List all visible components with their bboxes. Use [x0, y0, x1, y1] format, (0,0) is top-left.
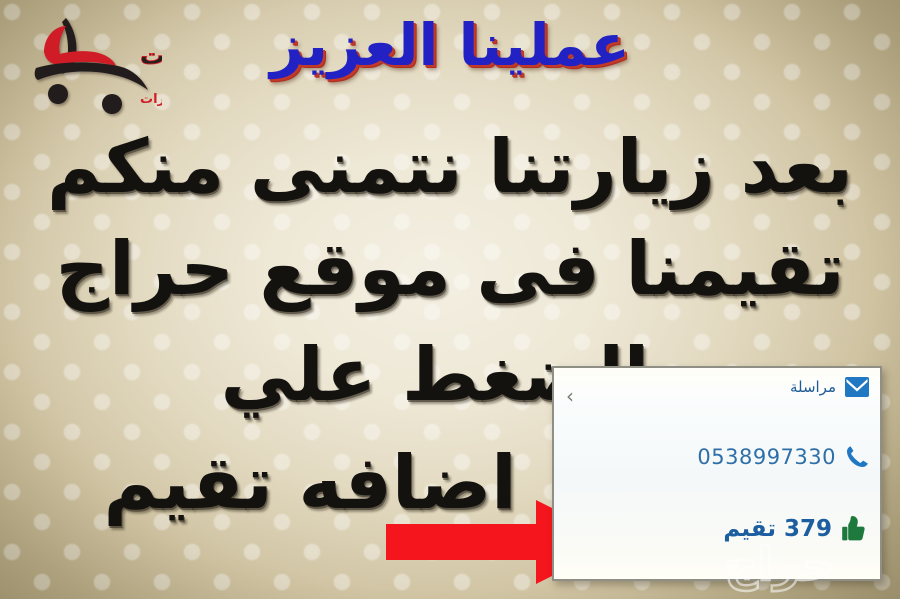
back-chevron-icon[interactable]: ‹: [566, 384, 574, 408]
body-line-1: بعد زيارتنا نتمنى منكم: [0, 124, 900, 210]
promo-banner: الإمارات للسيارات عملينا العزيز بعد زيار…: [0, 0, 900, 599]
card-label-phone: 0538997330: [697, 445, 836, 469]
envelope-icon: [844, 374, 870, 400]
card-row-message[interactable]: مراسلة: [790, 374, 870, 400]
phone-icon: [844, 444, 870, 470]
contact-card[interactable]: ‹ مراسلة 0538997330: [552, 366, 882, 581]
card-label-rating: 379 تقيم: [723, 516, 832, 542]
card-label-message: مراسلة: [790, 378, 836, 396]
body-line-2: تقيمنا فى موقع حراج: [0, 226, 900, 312]
page-title: عملينا العزيز: [0, 14, 900, 78]
thumbs-up-icon: [840, 514, 870, 544]
svg-text:للسيارات: للسيارات: [140, 92, 162, 107]
card-row-phone[interactable]: 0538997330: [697, 444, 870, 470]
card-row-rating[interactable]: 379 تقيم: [723, 514, 870, 544]
